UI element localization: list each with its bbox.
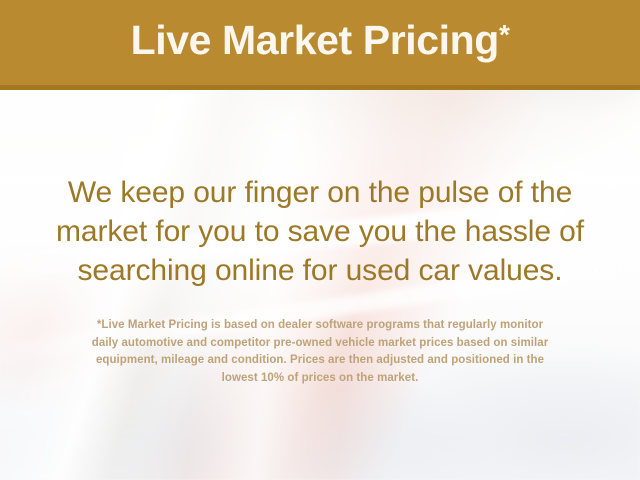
disclaimer-line-3: equipment, mileage and condition. Prices… — [0, 352, 640, 370]
disclaimer-line-4: lowest 10% of prices on the market. — [0, 370, 640, 388]
disclaimer-line-1: *Live Market Pricing is based on dealer … — [0, 317, 640, 335]
title-asterisk: * — [499, 19, 510, 50]
headline-line-3: searching online for used car values. — [0, 251, 640, 290]
disclaimer-block: *Live Market Pricing is based on dealer … — [0, 317, 640, 387]
headline-line-2: market for you to save you the hassle of — [0, 212, 640, 251]
headline-line-1: We keep our finger on the pulse of the — [0, 173, 640, 212]
header-banner: Live Market Pricing* — [0, 0, 640, 90]
page-title: Live Market Pricing* — [131, 20, 510, 61]
live-market-pricing-banner: Live Market Pricing* We keep our finger … — [0, 0, 640, 480]
page-title-text: Live Market Pricing — [131, 17, 499, 63]
headline-block: We keep our finger on the pulse of the m… — [0, 173, 640, 290]
disclaimer-line-2: daily automotive and competitor pre-owne… — [0, 335, 640, 353]
